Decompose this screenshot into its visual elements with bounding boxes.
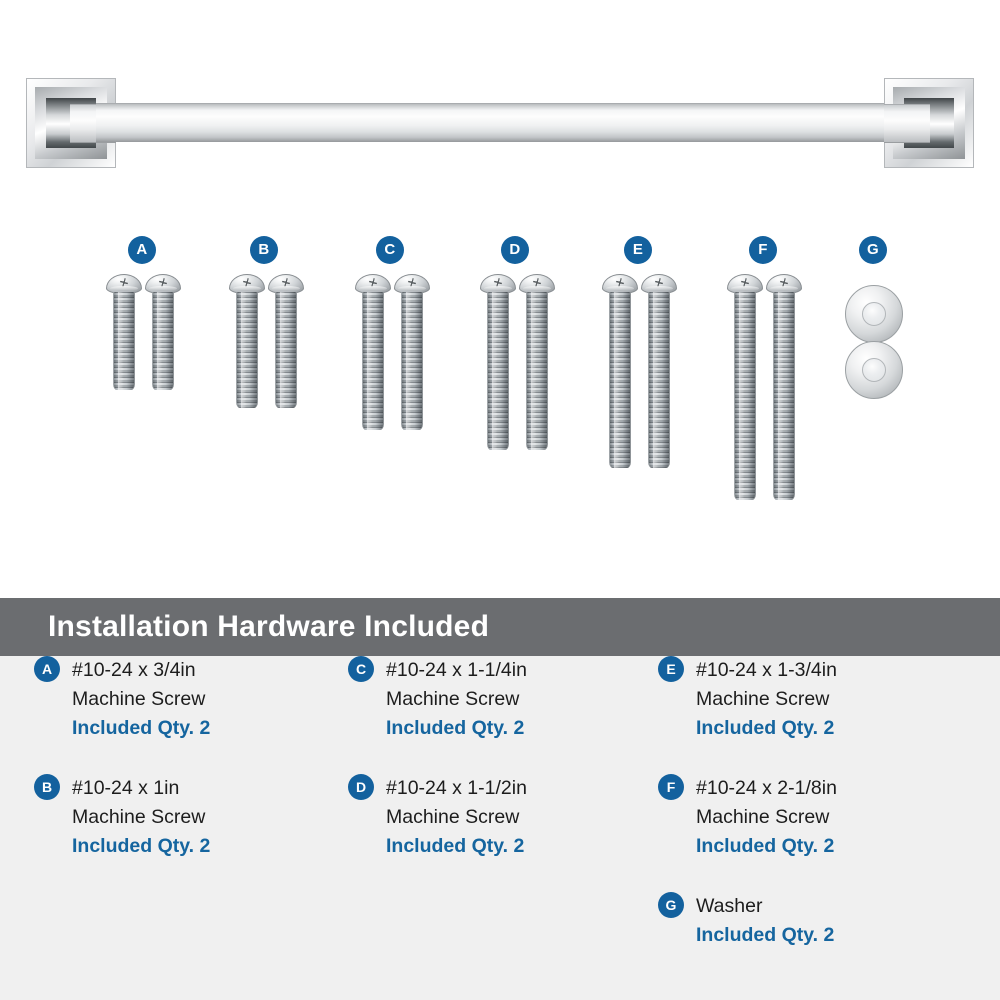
screw-head-icon xyxy=(106,274,142,294)
legend-item-subtitle: Machine Screw xyxy=(72,803,354,832)
legend-item-name: #10-24 x 3/4in xyxy=(72,656,354,685)
art-badge-g: G xyxy=(859,236,887,264)
list-item: A #10-24 x 3/4in Machine Screw Included … xyxy=(34,656,354,743)
art-badge-e: E xyxy=(624,236,652,264)
art-badge-a: A xyxy=(128,236,156,264)
screw-head-icon xyxy=(229,274,265,294)
screw-shaft xyxy=(401,292,423,430)
screw-shaft xyxy=(526,292,548,450)
legend-item-name: #10-24 x 1-3/4in xyxy=(696,656,978,685)
legend-item-name: #10-24 x 1-1/2in xyxy=(386,774,668,803)
screw-head-icon xyxy=(519,274,555,294)
screw-shaft xyxy=(609,292,631,468)
screw-shaft xyxy=(487,292,509,450)
legend-item-qty: Included Qty. 2 xyxy=(72,714,354,743)
legend-item-qty: Included Qty. 2 xyxy=(72,832,354,861)
list-item: F #10-24 x 2-1/8in Machine Screw Include… xyxy=(658,774,978,861)
screw-head-icon xyxy=(641,274,677,294)
screw-shaft xyxy=(236,292,258,408)
legend-badge-e: E xyxy=(658,656,684,682)
legend-badge-a: A xyxy=(34,656,60,682)
legend-badge-c: C xyxy=(348,656,374,682)
legend-item-name: #10-24 x 1in xyxy=(72,774,354,803)
screw-head-icon xyxy=(394,274,430,294)
art-badge-f: F xyxy=(749,236,777,264)
legend-item-subtitle: Machine Screw xyxy=(386,803,668,832)
legend-item-qty: Included Qty. 2 xyxy=(696,714,978,743)
art-badge-b: B xyxy=(250,236,278,264)
screw-head-icon xyxy=(480,274,516,294)
legend-item-qty: Included Qty. 2 xyxy=(386,832,668,861)
screw-head-icon xyxy=(602,274,638,294)
washer-g-2 xyxy=(845,341,903,399)
washer-g-1 xyxy=(845,285,903,343)
screw-head-icon xyxy=(727,274,763,294)
legend-item-name: Washer xyxy=(696,892,978,921)
screw-head-icon xyxy=(355,274,391,294)
towel-bar-rail xyxy=(96,103,904,142)
product-illustration-area: A B C D E F G xyxy=(0,0,1000,598)
screw-shaft xyxy=(734,292,756,500)
screw-shaft xyxy=(152,292,174,390)
post-rail-joint xyxy=(884,104,930,143)
legend-badge-b: B xyxy=(34,774,60,800)
hardware-header-bar: Installation Hardware Included xyxy=(0,598,1000,656)
list-item: B #10-24 x 1in Machine Screw Included Qt… xyxy=(34,774,354,861)
list-item: C #10-24 x 1-1/4in Machine Screw Include… xyxy=(348,656,668,743)
screw-head-icon xyxy=(145,274,181,294)
page-title: Installation Hardware Included xyxy=(0,610,489,644)
legend-column-1: A #10-24 x 3/4in Machine Screw Included … xyxy=(34,656,354,892)
screw-shaft xyxy=(113,292,135,390)
legend-item-qty: Included Qty. 2 xyxy=(386,714,668,743)
legend-item-qty: Included Qty. 2 xyxy=(696,832,978,861)
list-item: G Washer Included Qty. 2 xyxy=(658,892,978,950)
hardware-legend: A #10-24 x 3/4in Machine Screw Included … xyxy=(0,656,1000,1000)
screw-head-icon xyxy=(766,274,802,294)
screw-shaft xyxy=(648,292,670,468)
legend-item-subtitle: Machine Screw xyxy=(72,685,354,714)
towel-bar-post-right xyxy=(884,78,974,168)
screw-shaft xyxy=(275,292,297,408)
towel-bar-product xyxy=(26,78,974,168)
legend-badge-d: D xyxy=(348,774,374,800)
legend-badge-g: G xyxy=(658,892,684,918)
legend-item-name: #10-24 x 1-1/4in xyxy=(386,656,668,685)
legend-item-name: #10-24 x 2-1/8in xyxy=(696,774,978,803)
legend-item-subtitle: Machine Screw xyxy=(386,685,668,714)
legend-column-3: E #10-24 x 1-3/4in Machine Screw Include… xyxy=(658,656,978,981)
legend-column-2: C #10-24 x 1-1/4in Machine Screw Include… xyxy=(348,656,668,892)
art-badge-d: D xyxy=(501,236,529,264)
screw-shaft xyxy=(773,292,795,500)
art-badge-c: C xyxy=(376,236,404,264)
screw-head-icon xyxy=(268,274,304,294)
legend-item-subtitle: Machine Screw xyxy=(696,803,978,832)
list-item: D #10-24 x 1-1/2in Machine Screw Include… xyxy=(348,774,668,861)
list-item: E #10-24 x 1-3/4in Machine Screw Include… xyxy=(658,656,978,743)
screw-shaft xyxy=(362,292,384,430)
legend-badge-f: F xyxy=(658,774,684,800)
legend-item-qty: Included Qty. 2 xyxy=(696,921,978,950)
legend-item-subtitle: Machine Screw xyxy=(696,685,978,714)
